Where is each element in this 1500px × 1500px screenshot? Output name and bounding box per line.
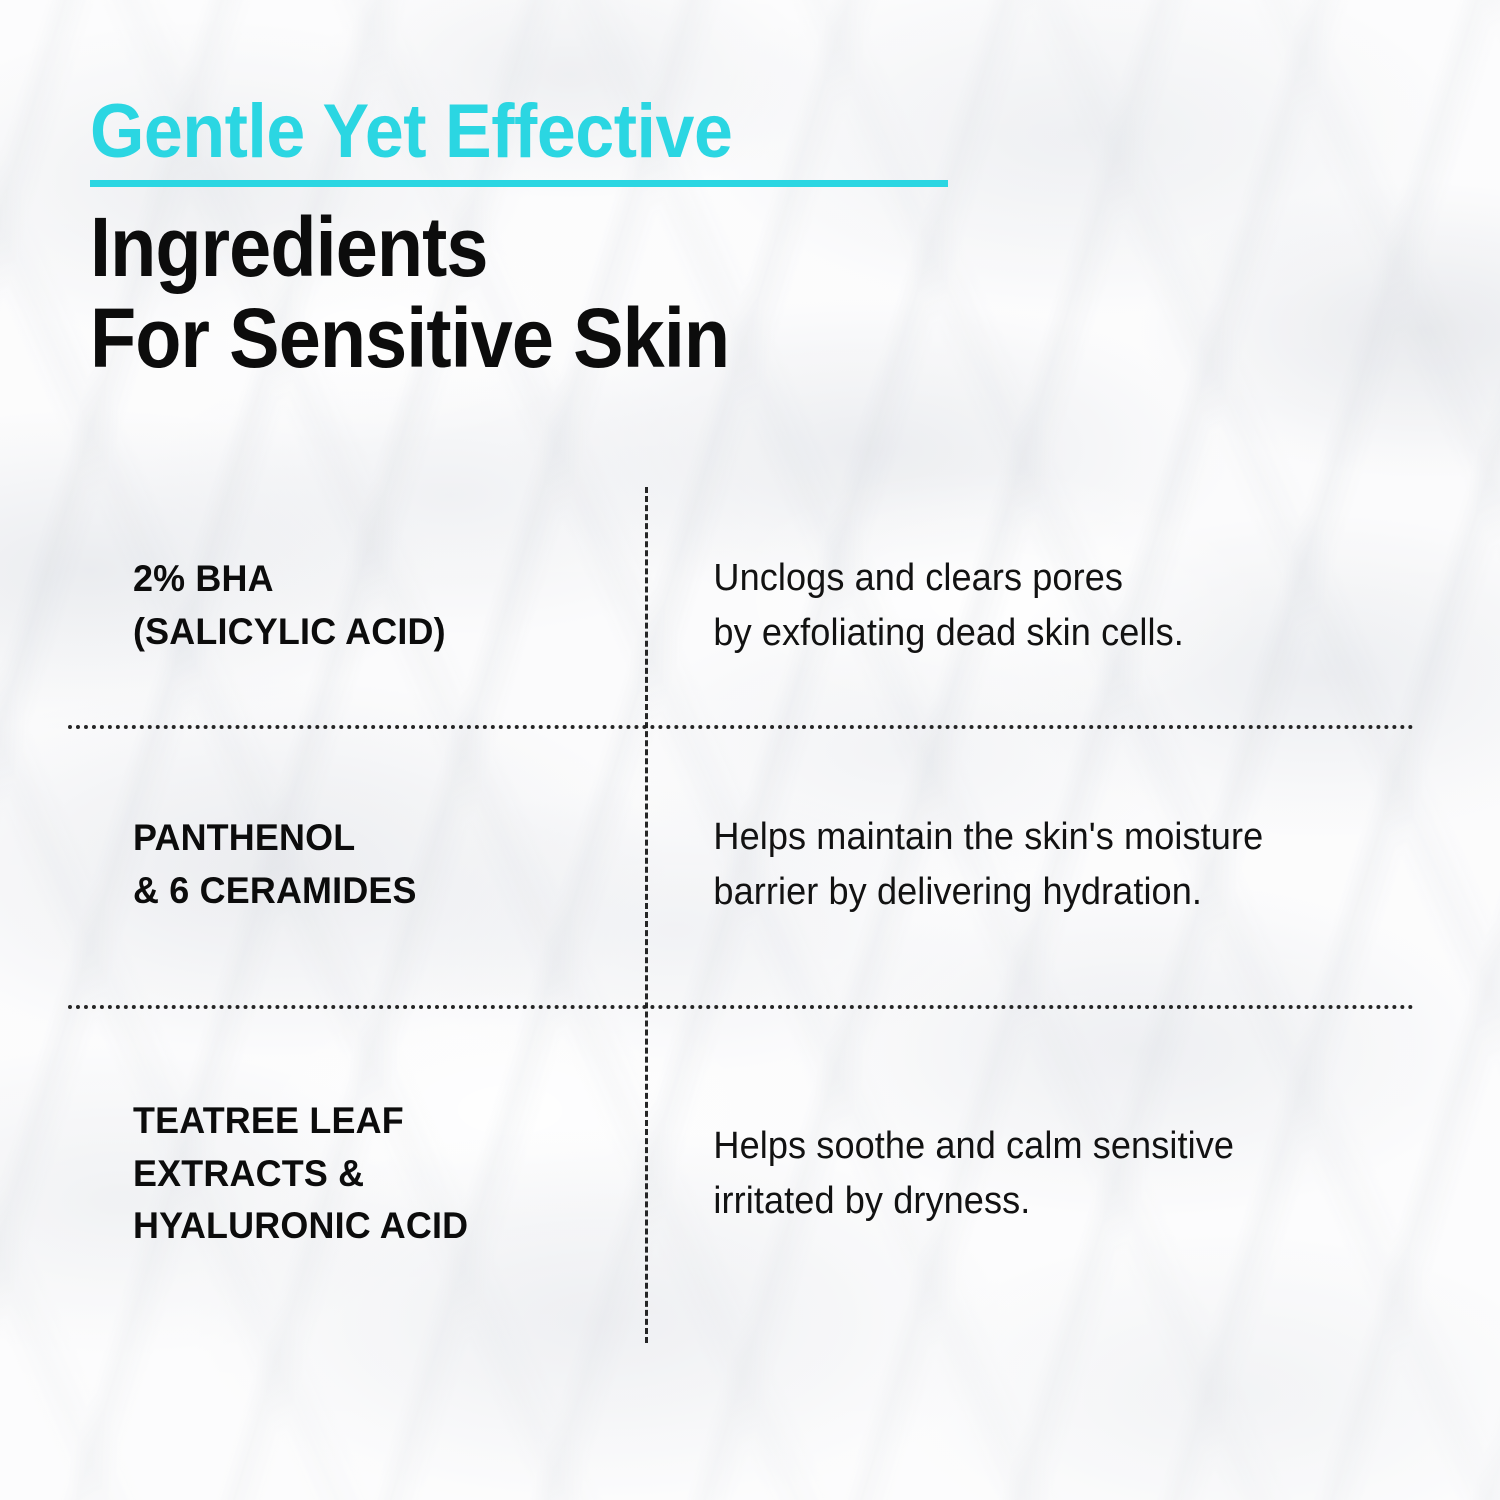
table-row: TEATREE LEAF EXTRACTS & HYALURONIC ACID …: [68, 1005, 1414, 1343]
ingredient-name-line: 2% BHA: [133, 553, 628, 606]
ingredient-benefit-line: barrier by delivering hydration.: [713, 865, 1375, 920]
headline-eyebrow-underline: [90, 180, 948, 187]
page-title-line-2: For Sensitive Skin: [90, 294, 990, 383]
ingredient-name-line: TEATREE LEAF: [133, 1095, 628, 1148]
ingredient-name-cell: PANTHENOL & 6 CERAMIDES: [68, 812, 628, 917]
ingredient-name-cell: TEATREE LEAF EXTRACTS & HYALURONIC ACID: [68, 1095, 628, 1253]
ingredient-benefit-line: irritated by dryness.: [713, 1174, 1375, 1229]
ingredient-benefit-line: Unclogs and clears pores: [713, 551, 1375, 606]
ingredient-name-line: EXTRACTS &: [133, 1148, 628, 1201]
infographic-canvas: Gentle Yet Effective Ingredients For Sen…: [0, 0, 1500, 1500]
ingredient-name-line: & 6 CERAMIDES: [133, 865, 628, 918]
ingredient-name-cell: 2% BHA (SALICYLIC ACID): [68, 553, 628, 658]
table-row: PANTHENOL & 6 CERAMIDES Helps maintain t…: [68, 725, 1414, 1005]
table-row: 2% BHA (SALICYLIC ACID) Unclogs and clea…: [68, 487, 1414, 725]
ingredient-name-line: (SALICYLIC ACID): [133, 606, 628, 659]
ingredient-benefit-cell: Helps maintain the skin's moisture barri…: [645, 810, 1376, 920]
ingredient-benefit-line: Helps soothe and calm sensitive: [713, 1119, 1375, 1174]
content-root: Gentle Yet Effective Ingredients For Sen…: [0, 0, 1500, 1500]
ingredient-benefit-cell: Helps soothe and calm sensitive irritate…: [645, 1119, 1376, 1229]
page-title-line-1: Ingredients: [90, 203, 990, 292]
ingredient-name-line: PANTHENOL: [133, 812, 628, 865]
ingredient-name-line: HYALURONIC ACID: [133, 1200, 628, 1253]
ingredient-benefit-line: by exfoliating dead skin cells.: [713, 606, 1375, 661]
ingredients-table: 2% BHA (SALICYLIC ACID) Unclogs and clea…: [68, 487, 1414, 1343]
headline-eyebrow: Gentle Yet Effective: [90, 96, 1010, 168]
headline-block: Gentle Yet Effective Ingredients For Sen…: [90, 96, 1090, 383]
ingredient-benefit-cell: Unclogs and clears pores by exfoliating …: [645, 551, 1376, 661]
ingredient-benefit-line: Helps maintain the skin's moisture: [713, 810, 1375, 865]
